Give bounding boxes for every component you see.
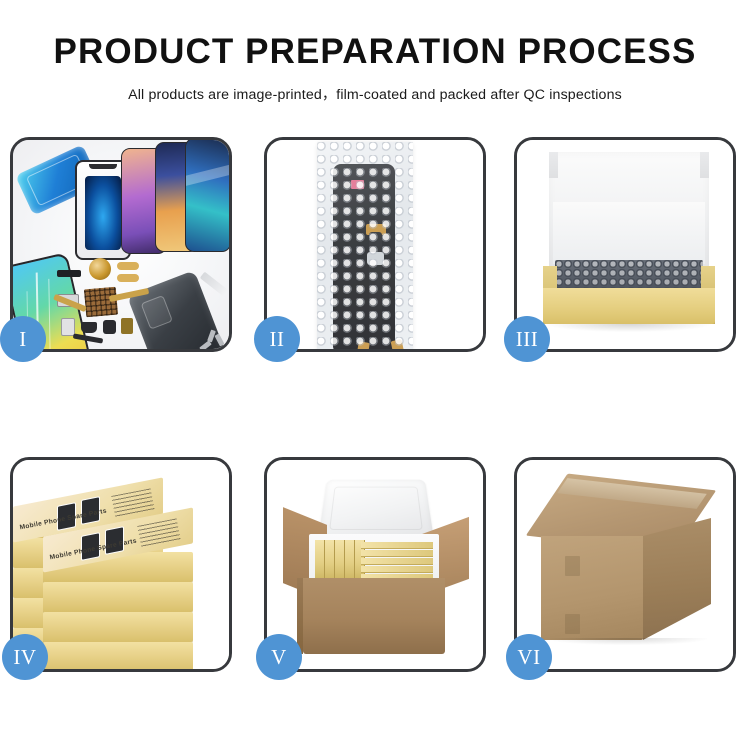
step-badge-3: III: [504, 316, 550, 362]
steps-grid: I II: [0, 137, 750, 697]
page-header: PRODUCT PREPARATION PROCESS All products…: [0, 0, 750, 104]
packed-box-flat-3: [361, 558, 433, 565]
packed-box-flat-4: [361, 566, 433, 573]
step-panel-1[interactable]: I: [10, 137, 232, 352]
carton-body: [303, 578, 445, 654]
stacked-box-r3: [43, 612, 193, 642]
step-panel-6[interactable]: VI: [514, 457, 736, 672]
inner-box-front-panel: [543, 288, 715, 324]
step-badge-4: IV: [2, 634, 48, 680]
stacked-box-r4: [43, 642, 193, 669]
step-image-3: [517, 140, 733, 349]
earpiece-part: [81, 322, 97, 333]
lcd-ic-chip: [367, 252, 384, 265]
phone-display-c: [185, 140, 229, 252]
carton-hand-hole-top: [565, 556, 580, 576]
battery-connector-part: [121, 318, 133, 334]
charging-coil-part: [89, 258, 111, 280]
step-image-6: [517, 460, 733, 669]
pink-tape-marker: [351, 180, 364, 189]
foam-lid: [318, 480, 434, 540]
vibrator-part: [103, 320, 116, 334]
flex-cable-gold-a: [117, 262, 139, 270]
packed-box-4: [345, 540, 355, 582]
packed-box-1: [315, 540, 325, 582]
sealed-carton-side: [643, 518, 711, 640]
stacked-box-r2: [43, 582, 193, 612]
packed-box-flat-2: [361, 550, 433, 557]
step-badge-2: II: [254, 316, 300, 362]
lcd-contact-left: [355, 341, 370, 349]
step-image-5: [267, 460, 483, 669]
step-panel-2[interactable]: II: [264, 137, 486, 352]
flex-cable-gold-b: [117, 274, 139, 282]
step-panel-4[interactable]: Mobile Phone Spare Parts Mobile Phone Sp…: [10, 457, 232, 672]
page-subtitle: All products are image-printed，film-coat…: [0, 84, 750, 104]
packed-box-2: [325, 540, 335, 582]
packed-box-flat-1: [361, 542, 433, 549]
step-badge-6: VI: [506, 634, 552, 680]
lcd-contact-right: [391, 339, 407, 349]
step-image-2: [267, 140, 483, 349]
sealed-carton-front: [541, 536, 643, 640]
inner-box-shadow: [547, 324, 711, 332]
tweezers-tool: [200, 272, 229, 297]
step-image-1: [13, 140, 229, 349]
step-badge-5: V: [256, 634, 302, 680]
bubble-wrap-bag: [317, 142, 413, 349]
step-badge-1: I: [0, 316, 46, 362]
inner-box-foam: [553, 202, 705, 264]
lcd-flex-cable: [369, 232, 382, 342]
lcd-screen-assembly: [333, 164, 395, 349]
chip-grid-part: [84, 287, 118, 318]
step-panel-3[interactable]: III: [514, 137, 736, 352]
packed-box-3: [335, 540, 345, 582]
step-panel-5[interactable]: V: [264, 457, 486, 672]
speaker-mesh-part: [57, 270, 81, 277]
step-image-4: Mobile Phone Spare Parts Mobile Phone Sp…: [13, 460, 229, 669]
page-title: PRODUCT PREPARATION PROCESS: [0, 34, 750, 71]
carton-hand-hole-bottom: [565, 614, 580, 634]
sealed-carton-shadow: [547, 638, 707, 645]
